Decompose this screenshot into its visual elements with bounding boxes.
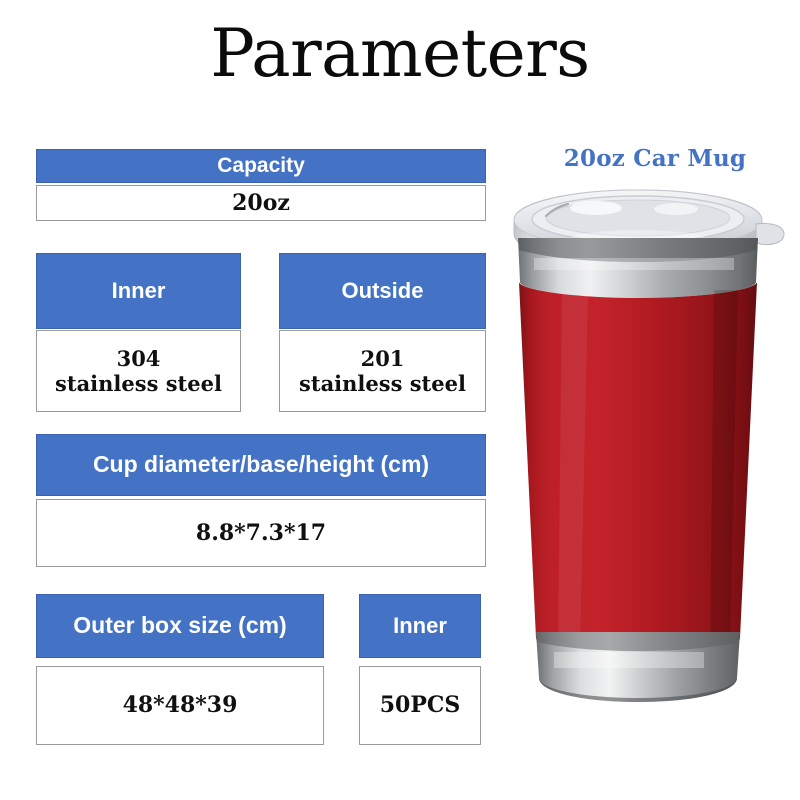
spec-value-inner-quantity: 50PCS xyxy=(359,666,481,745)
spec-value-inner-material: 304stainless steel xyxy=(36,330,241,412)
spec-value-outside-material: 201stainless steel xyxy=(279,330,486,412)
product-label: 20oz Car Mug xyxy=(520,145,790,172)
lid-highlight-left xyxy=(570,201,622,215)
base-highlight xyxy=(554,652,704,668)
lid-tab xyxy=(756,223,784,244)
tumbler-illustration xyxy=(488,186,788,716)
rim-highlight xyxy=(534,258,734,270)
spec-header-inner-quantity: Inner xyxy=(359,594,481,658)
spec-header-outer-box-size: Outer box size (cm) xyxy=(36,594,324,658)
spec-header-cup-dimensions: Cup diameter/base/height (cm) xyxy=(36,434,486,496)
spec-header-inner-material: Inner xyxy=(36,253,241,329)
spec-value-capacity: 20oz xyxy=(36,185,486,221)
spec-value-outer-box-size: 48*48*39 xyxy=(36,666,324,745)
parameters-infographic: Parameters Capacity 20oz Inner 304stainl… xyxy=(0,0,800,800)
spec-header-outside-material: Outside xyxy=(279,253,486,329)
lid-highlight-right xyxy=(654,203,698,215)
spec-value-cup-dimensions: 8.8*7.3*17 xyxy=(36,499,486,567)
page-title: Parameters xyxy=(0,16,800,92)
spec-header-capacity: Capacity xyxy=(36,149,486,183)
product-image-tumbler xyxy=(488,186,788,716)
